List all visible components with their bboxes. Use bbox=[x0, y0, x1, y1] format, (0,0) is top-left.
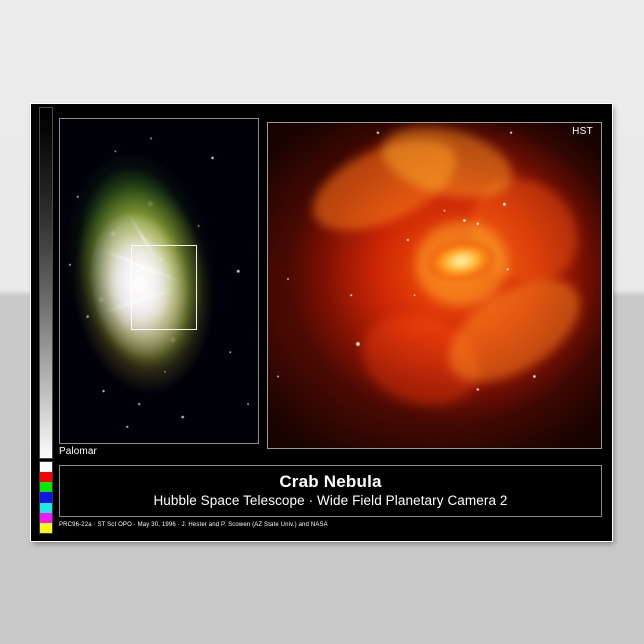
nebula-knots bbox=[68, 158, 218, 411]
caption-subtitle: Hubble Space Telescope · Wide Field Plan… bbox=[60, 492, 601, 510]
swatch-blue bbox=[40, 492, 52, 502]
swatch-red bbox=[40, 472, 52, 482]
swatch-cyan bbox=[40, 503, 52, 513]
page-background: Palomar HST Crab Nebula Hubble Space Tel… bbox=[0, 0, 644, 644]
swatch-green bbox=[40, 482, 52, 492]
swatch-white bbox=[40, 462, 52, 472]
hst-stars bbox=[268, 123, 601, 448]
swatch-yellow bbox=[40, 523, 52, 533]
page-title: Crab Nebula bbox=[60, 471, 601, 492]
hst-panel-label: HST bbox=[572, 125, 593, 138]
palomar-image-panel bbox=[59, 118, 259, 444]
credit-line: PRC96-22a · ST ScI OPO · May 30, 1996 · … bbox=[59, 521, 328, 530]
crab-nebula-poster: Palomar HST Crab Nebula Hubble Space Tel… bbox=[31, 104, 612, 541]
color-calibration-swatches bbox=[39, 461, 53, 534]
palomar-panel-label: Palomar bbox=[59, 445, 97, 458]
caption-box: Crab Nebula Hubble Space Telescope · Wid… bbox=[59, 465, 602, 517]
hst-image-panel: HST bbox=[267, 122, 602, 449]
grayscale-calibration-strip bbox=[39, 107, 53, 459]
palomar-nebula-body bbox=[68, 158, 218, 411]
swatch-magenta bbox=[40, 513, 52, 523]
